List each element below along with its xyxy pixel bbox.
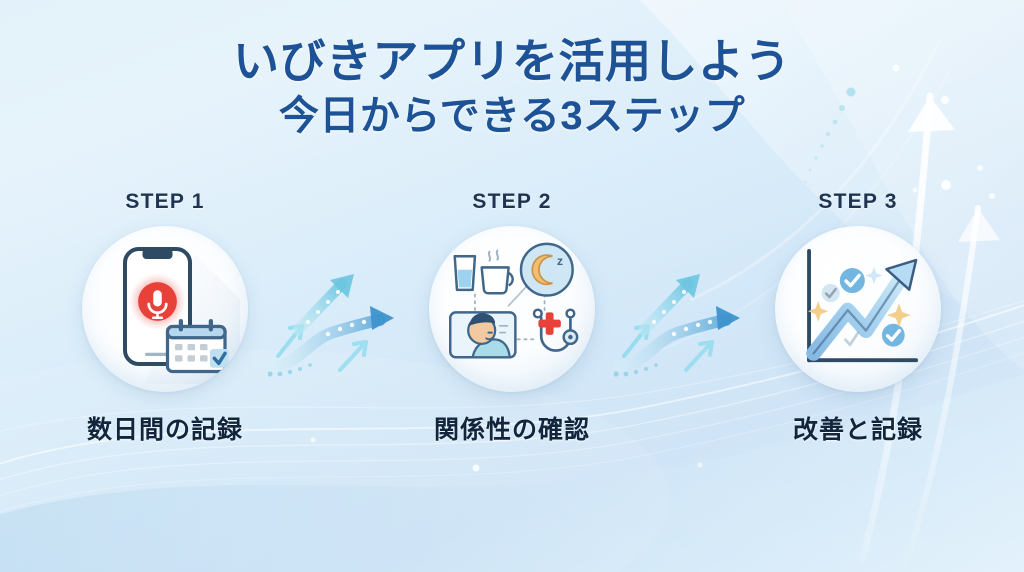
check-mark-icon-4	[845, 333, 858, 345]
hot-drink-cup-icon	[482, 251, 513, 294]
title-block: いびきアプリを活用しよう 今日からできる3ステップ	[0, 36, 1024, 140]
stethoscope-medical-cross-icon	[534, 310, 577, 351]
step-icon-circle-2[interactable]: z	[429, 226, 595, 392]
check-badge-icon-2	[882, 324, 905, 347]
step-item-1[interactable]: STEP 1	[40, 190, 290, 446]
sparkle-icon-1	[808, 301, 828, 321]
step-caption-3: 改善と記録	[733, 410, 983, 446]
calendar-check-icon	[168, 319, 229, 372]
title-line-1: いびきアプリを活用しよう	[0, 36, 1024, 88]
check-badge-icon-1	[840, 268, 865, 293]
step-item-3[interactable]: STEP 3	[733, 190, 983, 446]
title-line-2: 今日からできる3ステップ	[0, 92, 1024, 140]
step-label-2: STEP 2	[387, 190, 637, 214]
moon-sleep-badge-icon: z	[521, 244, 573, 296]
step-caption-2: 関係性の確認	[387, 410, 637, 446]
step-caption-1: 数日間の記録	[40, 410, 290, 446]
step-icon-circle-1[interactable]	[82, 226, 248, 392]
steps-row: STEP 1	[0, 190, 1024, 480]
step-label-3: STEP 3	[733, 190, 983, 214]
step-item-2[interactable]: STEP 2	[387, 190, 637, 446]
sleeping-person-icon	[450, 312, 515, 357]
step-label-1: STEP 1	[40, 190, 290, 214]
svg-text:z: z	[557, 254, 563, 268]
step-icon-circle-3[interactable]	[775, 226, 941, 392]
microphone-record-button-icon	[129, 273, 187, 331]
water-glass-icon	[455, 256, 475, 290]
sparkle-icon-3	[865, 267, 882, 284]
check-badge-icon-3	[822, 284, 840, 302]
infographic-canvas: いびきアプリを活用しよう 今日からできる3ステップ	[0, 0, 1024, 572]
